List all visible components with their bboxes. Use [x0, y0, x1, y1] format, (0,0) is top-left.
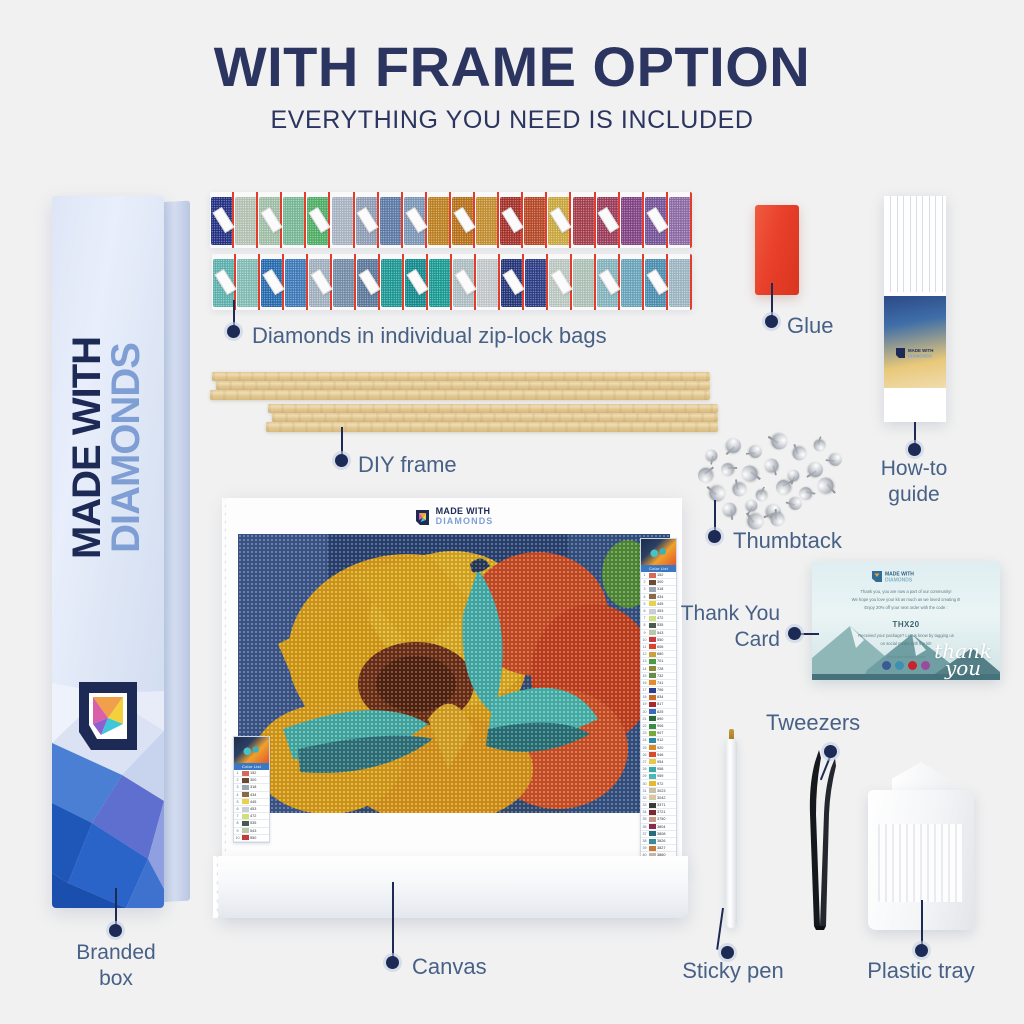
card-logo-icon: MADE WITH DIAMONDS — [812, 569, 1000, 589]
zip-lock-bag — [596, 254, 620, 310]
card-thank-you-script: thank you — [934, 643, 992, 676]
canvas-color-list: Color List115223003318443454456453747285… — [233, 736, 270, 843]
callout-label-glue: Glue — [787, 313, 833, 340]
zip-lock-bag — [236, 254, 260, 310]
thumbtack — [814, 474, 836, 496]
color-list-row: 24912 — [641, 737, 676, 744]
color-list-row: 8535 — [234, 820, 269, 827]
svg-text:DIAMONDS: DIAMONDS — [908, 353, 932, 358]
thumbtack — [789, 497, 803, 511]
color-list-row: 373808 — [641, 831, 676, 838]
zip-lock-bag — [476, 254, 500, 310]
color-list-row: 28958 — [641, 766, 676, 773]
zip-lock-bag — [548, 254, 572, 310]
callout-line-sticky-pen — [716, 908, 724, 950]
callout-label-tweezers: Tweezers — [766, 710, 860, 737]
color-list-row: 18834 — [641, 694, 676, 701]
callout-dot-diy-frame — [335, 454, 348, 467]
canvas-logo-icon: MADE WITH DIAMONDS — [226, 505, 682, 529]
color-list-thumbnail — [234, 737, 269, 763]
color-list-row: 1152 — [641, 572, 676, 579]
zip-lock-bag-row-bottom — [212, 254, 692, 310]
zip-lock-bag — [379, 192, 403, 248]
callout-label-thank-you-card: Thank You Card — [660, 601, 780, 652]
zip-lock-bag — [380, 254, 404, 310]
color-list-row: 21890 — [641, 716, 676, 723]
thumbtack — [706, 450, 718, 462]
color-list-row: 353750 — [641, 816, 676, 823]
thumbtack — [695, 465, 716, 486]
zip-lock-bag — [452, 254, 476, 310]
color-list-row: 3318 — [641, 586, 676, 593]
callout-dot-canvas — [386, 956, 399, 969]
zip-lock-bag — [620, 192, 644, 248]
thumbtack — [769, 431, 790, 452]
callout-line-thumbtack — [714, 500, 716, 532]
zip-lock-bag — [331, 192, 355, 248]
color-list-row: 22906 — [641, 723, 676, 730]
zip-lock-bag — [282, 192, 306, 248]
box-front-panel: MADE WITH DIAMONDS — [52, 196, 164, 908]
tray-grooves — [878, 824, 964, 902]
zip-lock-bag — [500, 254, 524, 310]
card-discount-code: THX20 — [812, 620, 1000, 629]
sticky-pen — [726, 738, 737, 928]
color-list-row: 333371 — [641, 802, 676, 809]
zip-lock-bag — [356, 254, 380, 310]
zip-lock-bag — [644, 254, 668, 310]
zip-lock-bag — [355, 192, 379, 248]
callout-line-glue — [771, 283, 773, 317]
zip-lock-bag — [668, 254, 692, 310]
callout-label-branded-box: Branded box — [46, 940, 186, 991]
callout-label-sticky-pen: Sticky pen — [663, 958, 803, 985]
thumbtack — [773, 477, 794, 498]
color-list-row: 29959 — [641, 773, 676, 780]
box-brand-lockup: MADE WITH DIAMONDS — [65, 283, 149, 613]
thumbtack — [730, 480, 748, 498]
callout-label-canvas: Canvas — [412, 954, 487, 981]
box-side-panel — [164, 201, 190, 902]
diamond-logo-icon — [71, 676, 145, 756]
color-list-row: 7472 — [234, 813, 269, 820]
color-list-row: 2300 — [234, 777, 269, 784]
zip-lock-bag — [428, 254, 452, 310]
callout-label-plastic-tray: Plastic tray — [851, 958, 991, 985]
zip-lock-bag — [620, 254, 644, 310]
thumbtack — [748, 444, 764, 460]
color-list-row: 15732 — [641, 673, 676, 680]
zip-lock-bag — [596, 192, 620, 248]
guide-color-chart — [884, 196, 946, 292]
zip-lock-bag — [451, 192, 475, 248]
thumbtack — [762, 456, 781, 475]
zip-lock-bag — [547, 192, 571, 248]
canvas-sheet: MADE WITH DIAMONDS — [226, 498, 682, 868]
thumbtack — [739, 463, 760, 484]
zip-lock-bag — [210, 192, 234, 248]
canvas-logo-line2: DIAMONDS — [436, 516, 494, 526]
color-list-row: 363804 — [641, 824, 676, 831]
callout-dot-branded-box — [109, 924, 122, 937]
pen-tip — [729, 729, 734, 739]
callout-label-diy-frame: DIY frame — [358, 452, 457, 479]
color-list-row: 25920 — [641, 745, 676, 752]
thumbtack — [754, 488, 768, 502]
zip-lock-bag — [284, 254, 308, 310]
rolled-canvas — [218, 856, 688, 918]
zip-lock-bag — [524, 254, 548, 310]
callout-line-canvas — [392, 882, 394, 958]
zip-lock-bag — [258, 192, 282, 248]
thumbtack — [799, 487, 812, 500]
callout-dot-glue — [765, 315, 778, 328]
canvas-artwork — [238, 534, 670, 813]
thumbtack — [813, 439, 826, 452]
thumbtack — [707, 483, 729, 505]
pinterest-icon — [908, 661, 917, 670]
callout-line-diy-frame — [341, 427, 343, 457]
color-list-title: Color List — [234, 763, 269, 770]
color-list-row: 383826 — [641, 838, 676, 845]
glue-stick — [755, 205, 799, 295]
zip-lock-bag — [260, 254, 284, 310]
color-list-row: 343721 — [641, 809, 676, 816]
zip-lock-bag — [644, 192, 668, 248]
thumbtack — [828, 452, 842, 466]
callout-line-diamonds — [233, 300, 235, 328]
guide-cover-photo — [884, 296, 946, 388]
callout-dot-diamonds — [227, 325, 240, 338]
callout-label-diamonds: Diamonds in individual zip-lock bags — [252, 323, 607, 350]
thumbtack — [744, 498, 759, 513]
zip-lock-bag — [475, 192, 499, 248]
thank-you-card: MADE WITH DIAMONDS Thank you, you are no… — [812, 562, 1000, 680]
page-subtitle: EVERYTHING YOU NEED IS INCLUDED — [0, 106, 1024, 135]
color-list-row: 393827 — [641, 845, 676, 852]
color-list-row: 323042 — [641, 795, 676, 802]
thumbtack — [769, 511, 785, 527]
color-list-row: 9543 — [234, 828, 269, 835]
facebook-icon — [882, 661, 891, 670]
color-list-row: 3318 — [234, 784, 269, 791]
zip-lock-bag-row-top — [210, 192, 692, 248]
zip-lock-bag — [668, 192, 692, 248]
canvas-logo-line1: MADE WITH — [436, 507, 494, 516]
twitter-icon — [895, 661, 904, 670]
callout-line-branded-box — [115, 888, 117, 928]
zip-lock-bag — [403, 192, 427, 248]
zip-lock-bag — [308, 254, 332, 310]
color-list-title: Color List — [641, 565, 676, 572]
svg-text:DIAMONDS: DIAMONDS — [885, 577, 913, 583]
diamond-painting-canvas: MADE WITH DIAMONDS — [226, 498, 682, 868]
zip-lock-bag — [572, 192, 596, 248]
branded-box: Sparkle and Shine MADE WITH — [52, 196, 192, 912]
callout-label-thumbtack: Thumbtack — [733, 528, 842, 555]
zip-lock-bag — [427, 192, 451, 248]
callout-dot-guide — [908, 443, 921, 456]
callout-dot-thank-you-card — [788, 627, 801, 640]
color-list-row: 17796 — [641, 687, 676, 694]
tweezers — [800, 744, 840, 930]
zip-lock-bag — [404, 254, 428, 310]
how-to-guide-booklet: MADE WITH DIAMONDS — [884, 196, 946, 422]
color-list-thumbnail — [641, 539, 676, 565]
color-list-row: 20825 — [641, 709, 676, 716]
instagram-icon — [921, 661, 930, 670]
canvas-color-list: Color List115223003318443454456453747285… — [640, 538, 677, 861]
color-list-row: 13701 — [641, 658, 676, 665]
color-list-row: 4434 — [641, 594, 676, 601]
zip-lock-bag — [306, 192, 330, 248]
color-list-row: 26946 — [641, 752, 676, 759]
thumbtack — [720, 462, 735, 477]
zip-lock-bag — [332, 254, 356, 310]
color-list-row: 16741 — [641, 680, 676, 687]
brand-name-line2: DIAMONDS — [104, 283, 149, 613]
color-list-row: 14728 — [641, 665, 676, 672]
svg-text:MADE WITH: MADE WITH — [908, 348, 933, 353]
zip-lock-bag — [234, 192, 258, 248]
callout-label-guide: How-to guide — [852, 456, 976, 507]
color-list-row: 30972 — [641, 780, 676, 787]
color-list-row: 27954 — [641, 759, 676, 766]
color-list-row: 2300 — [641, 579, 676, 586]
page-title: WITH FRAME OPTION — [0, 34, 1024, 99]
callout-dot-plastic-tray — [915, 944, 928, 957]
color-list-row: 1152 — [234, 770, 269, 777]
color-list-row: 23907 — [641, 730, 676, 737]
color-list-row: 313023 — [641, 788, 676, 795]
zip-lock-bag — [523, 192, 547, 248]
color-list-row: 10550 — [234, 835, 269, 842]
color-list-row: 6453 — [234, 806, 269, 813]
thumbtack — [790, 444, 809, 463]
thumbtack — [721, 501, 738, 518]
guide-logo-icon: MADE WITH DIAMONDS — [884, 346, 946, 365]
zip-lock-bag — [572, 254, 596, 310]
thumbtack — [723, 435, 744, 456]
color-list-row: 5445 — [234, 799, 269, 806]
thumbtack — [787, 469, 801, 483]
color-list-row: 19817 — [641, 701, 676, 708]
color-list-row: 4434 — [234, 792, 269, 799]
callout-dot-tweezers — [824, 745, 837, 758]
card-message-top: Thank you, you are now a part of our com… — [820, 588, 992, 611]
callout-line-plastic-tray — [921, 900, 923, 948]
callout-dot-thumbtack — [708, 530, 721, 543]
zip-lock-bag — [499, 192, 523, 248]
